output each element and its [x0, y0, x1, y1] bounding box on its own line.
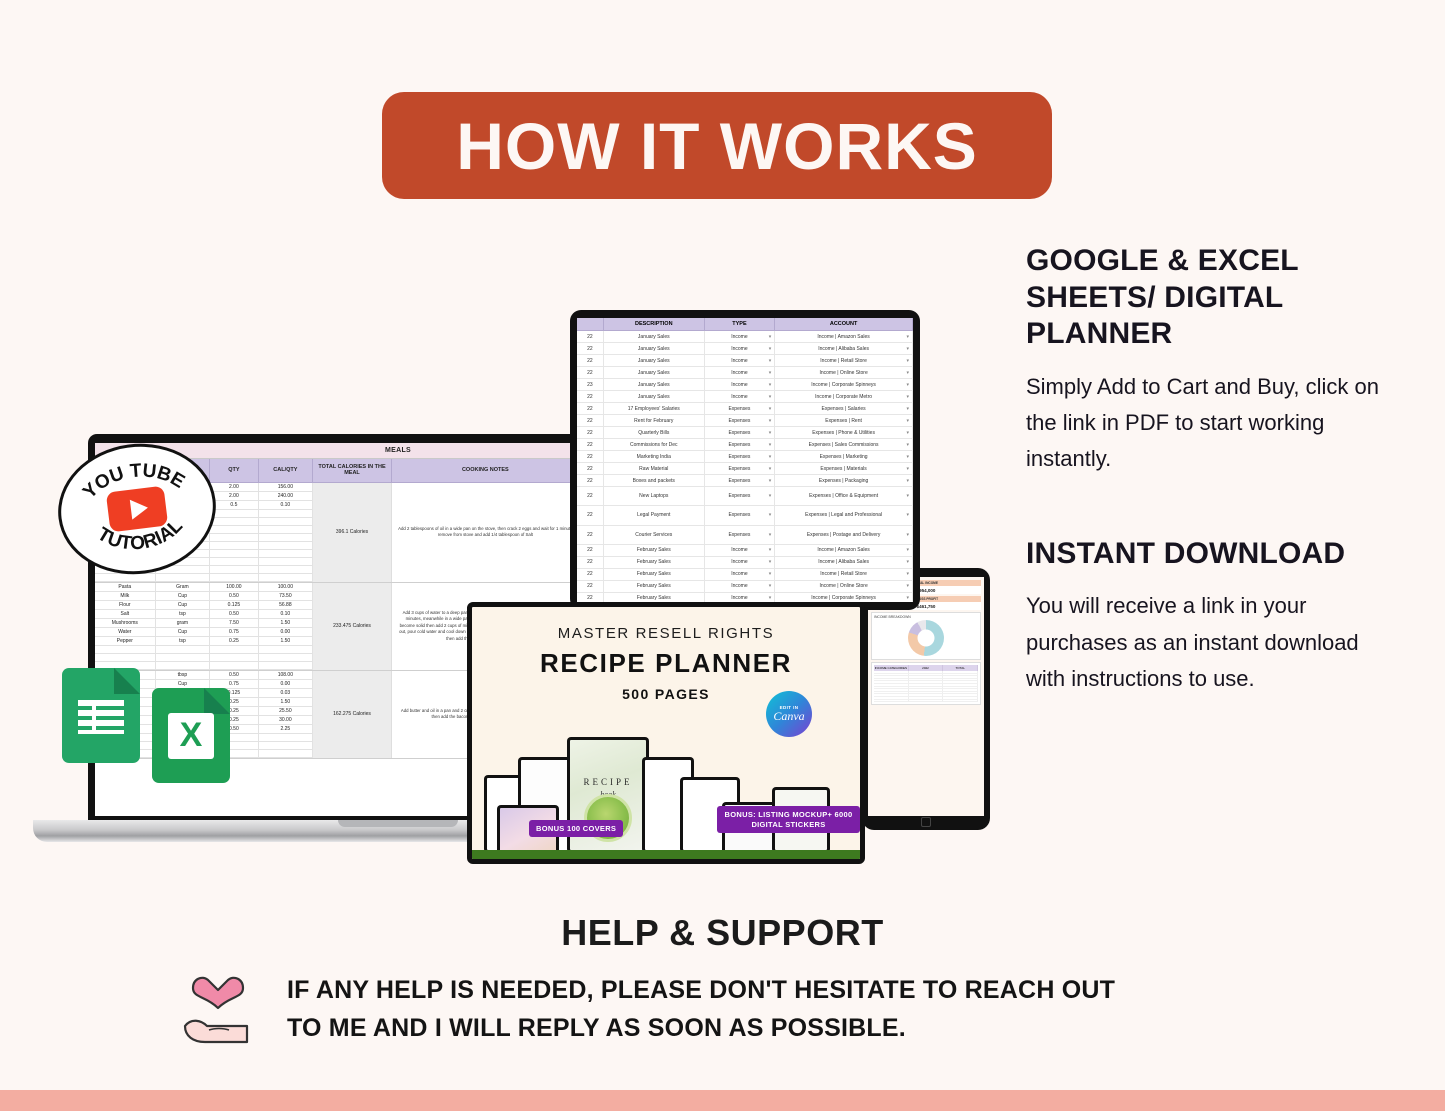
cell-account: Income | Corporate Metro▾: [775, 391, 913, 402]
cell-unit: tbsp: [156, 671, 211, 679]
cell-description: 17 Employees' Salaries: [604, 403, 705, 414]
cell-type: Expenses▾: [705, 526, 776, 544]
table-row: 22February SalesIncome▾Income | Online S…: [577, 581, 913, 593]
youtube-tutorial-badge[interactable]: YOU TUBE TUTORIAL: [51, 435, 224, 583]
ingredient-rows: PastaGram100.00100.00MilkCup0.5073.50Flo…: [95, 583, 313, 670]
excel-x-glyph: X: [168, 713, 214, 759]
cell-description: Quarterly Bills: [604, 427, 705, 438]
cell-index: 22: [577, 569, 604, 580]
cover-title: RECIPE: [583, 777, 632, 787]
cell-cal: 1.50: [259, 698, 314, 706]
cell-index: 22: [577, 487, 604, 505]
page-fold: [204, 688, 230, 714]
col-description: DESCRIPTION: [604, 318, 705, 330]
cell-qty: 0.50: [210, 610, 258, 618]
cell-account: Income | Online Store▾: [775, 367, 913, 378]
cell-cal: 30.00: [259, 716, 314, 724]
ingredient-row: Mushroomsgram7.501.50: [95, 619, 313, 628]
cell-index: 22: [577, 355, 604, 366]
cell-qty: 0.5: [210, 501, 258, 509]
cell-account: Expenses | Packaging▾: [775, 475, 913, 486]
cell-total-calories: 396.1 Calories: [313, 483, 392, 582]
svg-text:TUTORIAL: TUTORIAL: [92, 514, 190, 560]
cell-ingredient: Flour: [95, 601, 156, 609]
cell-qty: 0.50: [210, 671, 258, 679]
cell-cal: 25.50: [259, 707, 314, 715]
cell-qty: 2.00: [210, 492, 258, 500]
cell-type: Income▾: [705, 569, 776, 580]
cell-description: February Sales: [604, 557, 705, 568]
cell-type: Expenses▾: [705, 463, 776, 474]
cell-type: Expenses▾: [705, 427, 776, 438]
help-support-line-2: TO ME AND I WILL REPLY AS SOON AS POSSIB…: [287, 1009, 1115, 1047]
table-row: 22January SalesIncome▾Income | Retail St…: [577, 355, 913, 367]
cell-description: Raw Material: [604, 463, 705, 474]
cell-account: Income | Amazon Sales▾: [775, 545, 913, 556]
page-root: HOW IT WORKS GOOGLE & EXCEL SHEETS/ DIGI…: [0, 0, 1445, 1111]
cell-unit: Cup: [156, 592, 211, 600]
cell-description: January Sales: [604, 379, 705, 390]
cell-cal: 156.00: [259, 483, 314, 491]
table-row: 22Legal PaymentExpenses▾Expenses | Legal…: [577, 506, 913, 525]
cell-type: Income▾: [705, 581, 776, 592]
cell-cal: 100.00: [259, 583, 314, 591]
cell-description: Marketing India: [604, 451, 705, 462]
cell-unit: Gram: [156, 583, 211, 591]
cell-account: Expenses | Rent▾: [775, 415, 913, 426]
cell-description: February Sales: [604, 593, 705, 602]
cell-cooking-notes: Add 2 tablespoons of oil in a wide pan o…: [392, 483, 580, 582]
cell-description: New Laptops: [604, 487, 705, 505]
cell-index: 22: [577, 403, 604, 414]
cell-unit: tsp: [156, 637, 211, 645]
empty-row: [95, 654, 313, 662]
google-sheets-icon[interactable]: [62, 668, 140, 763]
cell-type: Expenses▾: [705, 487, 776, 505]
cell-cal: 108.00: [259, 671, 314, 679]
cell-description: February Sales: [604, 581, 705, 592]
cell-account: Expenses | Sales Commissions▾: [775, 439, 913, 450]
cell-account: Expenses | Legal and Professional▾: [775, 506, 913, 524]
cell-type: Income▾: [705, 343, 776, 354]
cell-ingredient: Pasta: [95, 583, 156, 591]
cell-index: 22: [577, 439, 604, 450]
col-index: [577, 318, 604, 330]
edit-in-canva-badge: EDIT IN Canva: [766, 691, 812, 737]
col-account: ACCOUNT: [775, 318, 913, 330]
cell-index: 22: [577, 391, 604, 402]
cell-total-calories: 162.275 Calories: [313, 671, 392, 758]
table-row: 22February SalesIncome▾Income | Retail S…: [577, 569, 913, 581]
tablet-income-sheet: DESCRIPTION TYPE ACCOUNT 22January Sales…: [570, 310, 920, 610]
green-ground-strip: [472, 850, 860, 859]
cell-account: Income | Retail Store▾: [775, 355, 913, 366]
cell-description: January Sales: [604, 331, 705, 342]
cell-description: January Sales: [604, 367, 705, 378]
cell-account: Expenses | Phone & Utilities▾: [775, 427, 913, 438]
cell-type: Income▾: [705, 391, 776, 402]
cell-ingredient: Mushrooms: [95, 619, 156, 627]
help-support-text: IF ANY HELP IS NEEDED, PLEASE DON'T HESI…: [287, 971, 1115, 1047]
help-support-row: IF ANY HELP IS NEEDED, PLEASE DON'T HESI…: [175, 968, 1295, 1050]
cell-description: Commissions for Dec: [604, 439, 705, 450]
cell-type: Income▾: [705, 557, 776, 568]
sheet-grid-glyph: [78, 700, 124, 734]
cell-description: January Sales: [604, 391, 705, 402]
cell-account: Income | Corporate Spinneys▾: [775, 379, 913, 390]
svg-text:YOU TUBE: YOU TUBE: [77, 454, 191, 504]
cell-index: 22: [577, 506, 604, 524]
body-google-excel: Simply Add to Cart and Buy, click on the…: [1026, 369, 1386, 478]
cell-account: Expenses | Office & Equipment▾: [775, 487, 913, 505]
table-row: 22Courier ServicesExpenses▾Expenses | Po…: [577, 526, 913, 545]
cell-index: 22: [577, 557, 604, 568]
cell-account: Expenses | Postage and Delivery▾: [775, 526, 913, 544]
cell-qty: 0.75: [210, 628, 258, 636]
cell-account: Income | Amazon Sales▾: [775, 331, 913, 342]
heading-google-excel: GOOGLE & EXCEL SHEETS/ DIGITAL PLANNER: [1026, 243, 1386, 353]
card-title: RECIPE PLANNER: [472, 648, 860, 679]
income-breakdown-panel: INCOME BREAKDOWN: [871, 612, 981, 660]
table-row: 22January SalesIncome▾Income | Alibaba S…: [577, 343, 913, 355]
right-info-column: GOOGLE & EXCEL SHEETS/ DIGITAL PLANNER S…: [1026, 243, 1386, 697]
cell-description: Rent for February: [604, 415, 705, 426]
table-row: 22Raw MaterialExpenses▾Expenses | Materi…: [577, 463, 913, 475]
income-categories-table: INCOME CATEGORIES 2022 TOTAL: [871, 662, 981, 705]
cell-index: 22: [577, 475, 604, 486]
cell-account: Income | Alibaba Sales▾: [775, 557, 913, 568]
cell-type: Expenses▾: [705, 506, 776, 524]
chart-title: INCOME BREAKDOWN: [874, 615, 978, 619]
cell-index: 22: [577, 331, 604, 342]
empty-row: [95, 646, 313, 654]
cell-qty: 7.50: [210, 619, 258, 627]
cell-account: Expenses | Materials▾: [775, 463, 913, 474]
cell-type: Expenses▾: [705, 439, 776, 450]
banner-title: HOW IT WORKS: [456, 108, 978, 184]
cell-type: Income▾: [705, 355, 776, 366]
cell-index: 22: [577, 593, 604, 602]
ingredient-row: Salttsp0.500.10: [95, 610, 313, 619]
bonus-badge-stickers: BONUS: LISTING MOCKUP+ 6000 DIGITAL STIC…: [717, 806, 860, 833]
table-row: 22Rent for FebruaryExpenses▾Expenses | R…: [577, 415, 913, 427]
col-cal-qty: CAL/QTY: [259, 459, 314, 482]
cell-type: Income▾: [705, 545, 776, 556]
col-total-calories: TOTAL CALORIES IN THE MEAL: [313, 459, 392, 482]
empty-row: [95, 574, 313, 582]
table-row: 22Marketing IndiaExpenses▾Expenses | Mar…: [577, 451, 913, 463]
device-mockup-row: RECIPE book: [472, 741, 860, 859]
help-support-title: HELP & SUPPORT: [0, 912, 1445, 954]
body-instant-download: You will receive a link in your purchase…: [1026, 588, 1386, 697]
cell-cal: 1.50: [259, 637, 314, 645]
canva-badge-name: Canva: [773, 709, 804, 724]
cell-account: Income | Retail Store▾: [775, 569, 913, 580]
cell-cal: 0.10: [259, 501, 314, 509]
heading-instant-download: INSTANT DOWNLOAD: [1026, 536, 1386, 573]
cell-account: Income | Online Store▾: [775, 581, 913, 592]
cell-cal: 0.00: [259, 680, 314, 688]
cell-cal: 0.03: [259, 689, 314, 697]
col-qty: QTY: [210, 459, 258, 482]
cell-type: Income▾: [705, 379, 776, 390]
bonus-badge-covers: BONUS 100 COVERS: [529, 820, 623, 837]
cell-qty: 100.00: [210, 583, 258, 591]
how-it-works-banner: HOW IT WORKS: [382, 92, 1052, 199]
cell-index: 22: [577, 451, 604, 462]
cell-index: 23: [577, 379, 604, 390]
cell-account: Expenses | Marketing▾: [775, 451, 913, 462]
cell-type: Expenses▾: [705, 415, 776, 426]
income-header-row: DESCRIPTION TYPE ACCOUNT: [577, 318, 913, 331]
ingredient-row: FlourCup0.12556.88: [95, 601, 313, 610]
ingredient-row: Peppertsp0.251.50: [95, 637, 313, 646]
table-row: 22January SalesIncome▾Income | Amazon Sa…: [577, 331, 913, 343]
cell-unit: gram: [156, 619, 211, 627]
cell-description: Legal Payment: [604, 506, 705, 524]
heart-in-hand-icon: [175, 968, 261, 1050]
table-row: 22New LaptopsExpenses▾Expenses | Office …: [577, 487, 913, 506]
table-row: 23January SalesIncome▾Income | Corporate…: [577, 379, 913, 391]
cell-type: Expenses▾: [705, 451, 776, 462]
cell-qty: 0.75: [210, 680, 258, 688]
table-row: 22Commissions for DecExpenses▾Expenses |…: [577, 439, 913, 451]
table-row: 2217 Employees' SalariesExpenses▾Expense…: [577, 403, 913, 415]
cell-unit: Cup: [156, 601, 211, 609]
cell-type: Income▾: [705, 593, 776, 602]
cell-description: January Sales: [604, 343, 705, 354]
cell-description: Boxes and packets: [604, 475, 705, 486]
cell-type: Expenses▾: [705, 475, 776, 486]
table-row: 22February SalesIncome▾Income | Amazon S…: [577, 545, 913, 557]
cell-account: Expenses | Salaries▾: [775, 403, 913, 414]
cell-qty: 0.25: [210, 637, 258, 645]
badge-curved-text: YOU TUBE TUTORIAL: [54, 438, 220, 580]
cell-qty: 0.50: [210, 592, 258, 600]
cell-cal: 240.00: [259, 492, 314, 500]
cell-ingredient: Water: [95, 628, 156, 636]
help-support-line-1: IF ANY HELP IS NEEDED, PLEASE DON'T HESI…: [287, 971, 1115, 1009]
income-donut-chart: [908, 620, 944, 656]
cell-account: Income | Alibaba Sales▾: [775, 343, 913, 354]
cell-cal: 73.50: [259, 592, 314, 600]
cell-index: 22: [577, 526, 604, 544]
table-row: 22January SalesIncome▾Income | Online St…: [577, 367, 913, 379]
bottom-accent-bar: [0, 1090, 1445, 1111]
cell-unit: tsp: [156, 610, 211, 618]
cell-unit: Cup: [156, 680, 211, 688]
recipe-planner-card: MASTER RESELL RIGHTS RECIPE PLANNER 500 …: [467, 602, 865, 864]
cell-cal: 2.25: [259, 725, 314, 733]
cell-qty: 2.00: [210, 483, 258, 491]
cell-ingredient: Pepper: [95, 637, 156, 645]
cell-description: January Sales: [604, 355, 705, 366]
cell-cal: 56.88: [259, 601, 314, 609]
cell-index: 22: [577, 367, 604, 378]
page-fold: [114, 668, 140, 694]
ingredient-row: MilkCup0.5073.50: [95, 592, 313, 601]
cell-cal: 0.10: [259, 610, 314, 618]
ingredient-row: WaterCup0.750.00: [95, 628, 313, 637]
card-eyebrow: MASTER RESELL RIGHTS: [472, 625, 860, 642]
cell-ingredient: Salt: [95, 610, 156, 618]
table-row: 22Quarterly BillsExpenses▾Expenses | Pho…: [577, 427, 913, 439]
cell-index: 22: [577, 581, 604, 592]
cell-index: 22: [577, 545, 604, 556]
cell-description: February Sales: [604, 569, 705, 580]
income-rows: 22January SalesIncome▾Income | Amazon Sa…: [577, 331, 913, 602]
cell-index: 22: [577, 343, 604, 354]
microsoft-excel-icon[interactable]: X: [152, 688, 230, 783]
table-row: 22February SalesIncome▾Income | Alibaba …: [577, 557, 913, 569]
cell-type: Expenses▾: [705, 403, 776, 414]
cell-ingredient: Milk: [95, 592, 156, 600]
cell-qty: 0.125: [210, 601, 258, 609]
cell-total-calories: 233.475 Calories: [313, 583, 392, 670]
cell-unit: Cup: [156, 628, 211, 636]
ingredient-row: PastaGram100.00100.00: [95, 583, 313, 592]
cell-type: Income▾: [705, 331, 776, 342]
col-type: TYPE: [705, 318, 776, 330]
cell-description: Courier Services: [604, 526, 705, 544]
cell-account: Income | Corporate Spinneys▾: [775, 593, 913, 602]
cell-index: 22: [577, 415, 604, 426]
home-button[interactable]: [921, 817, 931, 827]
cell-cal: 1.50: [259, 619, 314, 627]
cell-index: 22: [577, 463, 604, 474]
cell-cal: 0.00: [259, 628, 314, 636]
table-row: 22February SalesIncome▾Income | Corporat…: [577, 593, 913, 602]
cell-type: Income▾: [705, 367, 776, 378]
cell-index: 22: [577, 427, 604, 438]
table-row: 22Boxes and packetsExpenses▾Expenses | P…: [577, 475, 913, 487]
cell-description: February Sales: [604, 545, 705, 556]
col-cooking-notes: COOKING NOTES: [392, 459, 580, 482]
table-row: 22January SalesIncome▾Income | Corporate…: [577, 391, 913, 403]
table-row: [874, 700, 978, 703]
